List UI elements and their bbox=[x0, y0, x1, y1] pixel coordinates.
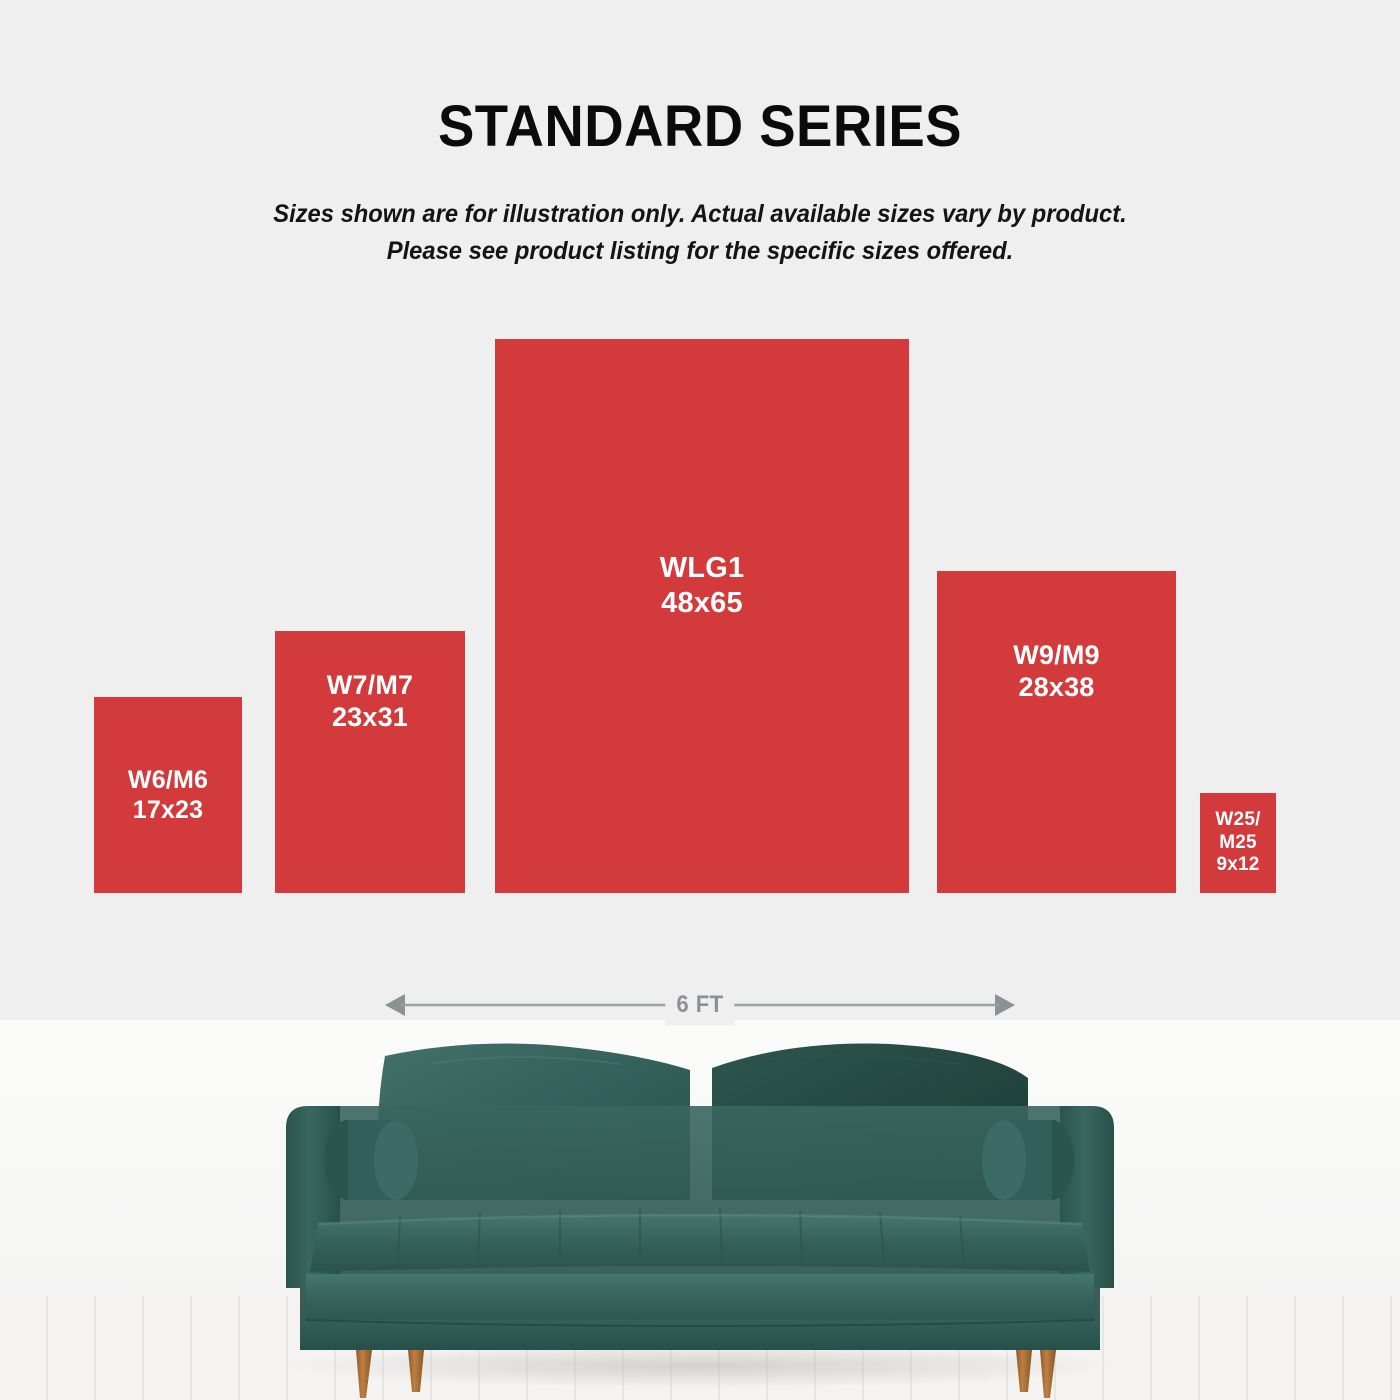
sofa-skirt bbox=[300, 1320, 1100, 1350]
frame-swatch-w9-m9[interactable]: W9/M9 28x38 bbox=[937, 571, 1176, 893]
frame-label-block: W6/M6 17x23 bbox=[128, 765, 208, 825]
dimension-label: 6 FT bbox=[665, 985, 734, 1025]
frame-code: WLG1 bbox=[660, 551, 745, 586]
frame-dimensions: 48x65 bbox=[661, 586, 743, 621]
sofa-illustration bbox=[0, 1020, 1400, 1400]
sofa-scene bbox=[0, 1020, 1400, 1400]
dimension-indicator: 6 FT bbox=[385, 985, 1015, 1025]
frame-label-block: W7/M7 23x31 bbox=[327, 669, 414, 734]
sofa-leg-back-right bbox=[1016, 1350, 1032, 1392]
frame-dimensions: 9x12 bbox=[1216, 854, 1259, 876]
frame-swatch-wlg1[interactable]: WLG1 48x65 bbox=[495, 339, 909, 893]
frame-swatch-w6-m6[interactable]: W6/M6 17x23 bbox=[94, 697, 242, 893]
frame-dimensions: 23x31 bbox=[332, 701, 408, 733]
size-chart-page: STANDARD SERIES Sizes shown are for illu… bbox=[0, 0, 1400, 1400]
frame-label-block: WLG1 48x65 bbox=[660, 551, 745, 621]
frame-label-block: W25/ M25 9x12 bbox=[1215, 809, 1260, 876]
frame-code: W7/M7 bbox=[327, 669, 414, 701]
sofa-shadow bbox=[280, 1344, 1120, 1388]
frame-code: W9/M9 bbox=[1013, 639, 1100, 671]
frame-label-block: W9/M9 28x38 bbox=[1013, 639, 1100, 704]
frame-code: W6/M6 bbox=[128, 765, 208, 795]
frame-dimensions: 28x38 bbox=[1018, 671, 1094, 703]
frame-swatch-w25-m25[interactable]: W25/ M25 9x12 bbox=[1200, 793, 1276, 893]
frame-size-diagram: W6/M6 17x23 W7/M7 23x31 WLG1 48x65 W9/M9… bbox=[0, 0, 1400, 960]
frame-code: W25/ bbox=[1215, 809, 1260, 831]
frame-code-continued: M25 bbox=[1219, 832, 1257, 854]
frame-swatch-w7-m7[interactable]: W7/M7 23x31 bbox=[275, 631, 465, 893]
frame-dimensions: 17x23 bbox=[133, 795, 204, 825]
sofa-leg-back-left bbox=[408, 1350, 424, 1392]
seat-cushion bbox=[310, 1215, 1090, 1272]
